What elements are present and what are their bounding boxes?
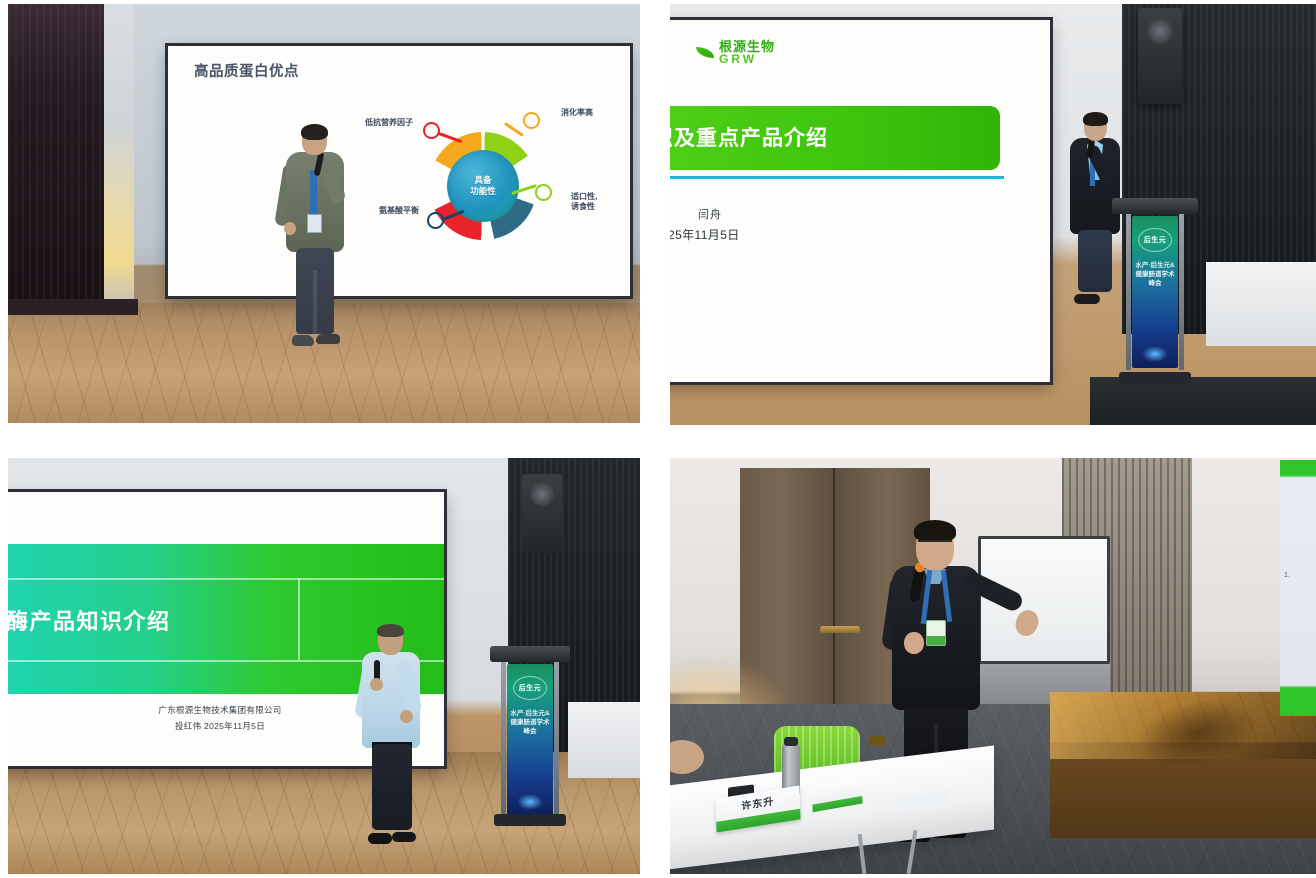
glasses	[303, 137, 326, 142]
leaf-icon	[696, 47, 714, 58]
podium-base	[1119, 372, 1191, 384]
loudspeaker	[1138, 8, 1182, 104]
hair	[914, 520, 956, 542]
shoe-left	[368, 833, 392, 844]
slide-title-band: 识及重点产品介绍	[670, 106, 1000, 170]
podium-banner: 后生元 水产·后生元&健康肠道学术峰会	[507, 664, 553, 816]
photo-bottom-left[interactable]: 酶产品知识介绍 广东根源生物技术集团有限公司 投红伟 2025年11月5日	[8, 458, 640, 874]
banner-glow	[517, 794, 543, 810]
pin-ring	[423, 122, 440, 139]
legs	[296, 248, 334, 334]
legs	[372, 744, 412, 830]
podium-banner: 后生元 水产·后生元&健康肠道学术峰会	[1132, 216, 1178, 368]
podium: 后生元 水产·后生元&健康肠道学术峰会	[490, 646, 570, 826]
door-handle	[820, 626, 860, 633]
photo-grid: 高品质蛋白优点 具备功能性	[0, 0, 1316, 878]
pin-amino-balance	[427, 212, 444, 229]
diagram-label-digestibility: 消化率高	[561, 108, 593, 118]
donut-center-label: 具备功能性	[470, 175, 496, 196]
pin-ring	[535, 184, 552, 201]
white-partition	[568, 702, 640, 778]
shoe-left	[292, 335, 314, 346]
speaker-figure	[360, 626, 424, 844]
photo-bottom-right[interactable]: 1. 许东升	[670, 458, 1316, 874]
gold-thermos	[866, 744, 888, 806]
diagram-label-palatability: 适口性, 诱食性	[571, 192, 597, 213]
name-card-text: 许东升	[741, 792, 775, 812]
acoustic-panel	[8, 4, 104, 304]
diagram-label-amino-balance: 氨基酸平衡	[379, 206, 419, 216]
projection-screen: 高品质蛋白优点 具备功能性	[168, 46, 630, 296]
podium-top	[490, 646, 570, 662]
pin-ring	[523, 112, 540, 129]
banner-glow	[1142, 346, 1168, 362]
photo-top-left[interactable]: 高品质蛋白优点 具备功能性	[8, 4, 640, 423]
slide-title: 高品质蛋白优点	[194, 60, 299, 81]
podium-top	[1112, 198, 1198, 214]
glasses	[1085, 124, 1106, 129]
podium-base	[494, 814, 566, 826]
hair	[377, 624, 404, 637]
stage-edge	[1090, 377, 1316, 425]
loudspeaker	[522, 474, 562, 554]
glasses	[918, 540, 952, 547]
photo-top-right[interactable]: 根源生物 GRW 识及重点产品介绍 闫舟 25年11月5日	[670, 4, 1316, 425]
shoe-right	[316, 334, 340, 344]
floor-baseboard	[8, 299, 138, 315]
id-badge	[926, 620, 946, 646]
side-screen-text: 1.	[1284, 572, 1290, 579]
slide-rule-vertical	[298, 578, 300, 660]
event-logo: 后生元	[1138, 228, 1172, 252]
hand-left	[370, 678, 383, 691]
slide-title: 酶产品知识介绍	[8, 604, 171, 636]
shoe-right	[392, 832, 416, 842]
donut-diagram: 具备功能性 消化率高	[383, 106, 603, 266]
pin-palatability	[535, 184, 552, 201]
lanyard-badge	[310, 170, 317, 214]
pin-digestibility	[523, 112, 540, 129]
slide-divider	[670, 176, 1004, 179]
side-projection-screen: 1.	[1280, 460, 1316, 716]
podium: 后生元 水产·后生元&健康肠道学术峰会	[1112, 198, 1198, 384]
diagram-label-antinutrient: 低抗营养因子	[365, 118, 413, 128]
wall-light-strip	[104, 4, 134, 304]
speaker-figure	[280, 126, 350, 346]
slide-presenter: 闫舟	[698, 206, 722, 222]
company-logo: 根源生物 GRW	[696, 40, 775, 65]
podium-banner-text: 水产·后生元&健康肠道学术峰会	[510, 710, 550, 736]
pin-antinutrient	[423, 122, 440, 139]
projection-screen: 根源生物 GRW 识及重点产品介绍 闫舟 25年11月5日	[670, 20, 1050, 382]
slide-title: 识及重点产品介绍	[670, 122, 828, 152]
hand	[284, 222, 296, 235]
white-partition	[1206, 262, 1316, 346]
legs	[1078, 230, 1112, 292]
slide-date: 25年11月5日	[670, 226, 740, 243]
event-logo: 后生元	[513, 676, 547, 700]
logo-text-en: GRW	[719, 53, 775, 65]
hand-right	[400, 710, 413, 723]
hand-left	[904, 632, 924, 654]
shoe	[1074, 294, 1100, 304]
podium-banner-text: 水产·后生元&健康肠道学术峰会	[1135, 262, 1175, 288]
slide-rule-top	[8, 578, 444, 580]
donut-ring: 具备功能性	[429, 132, 537, 240]
